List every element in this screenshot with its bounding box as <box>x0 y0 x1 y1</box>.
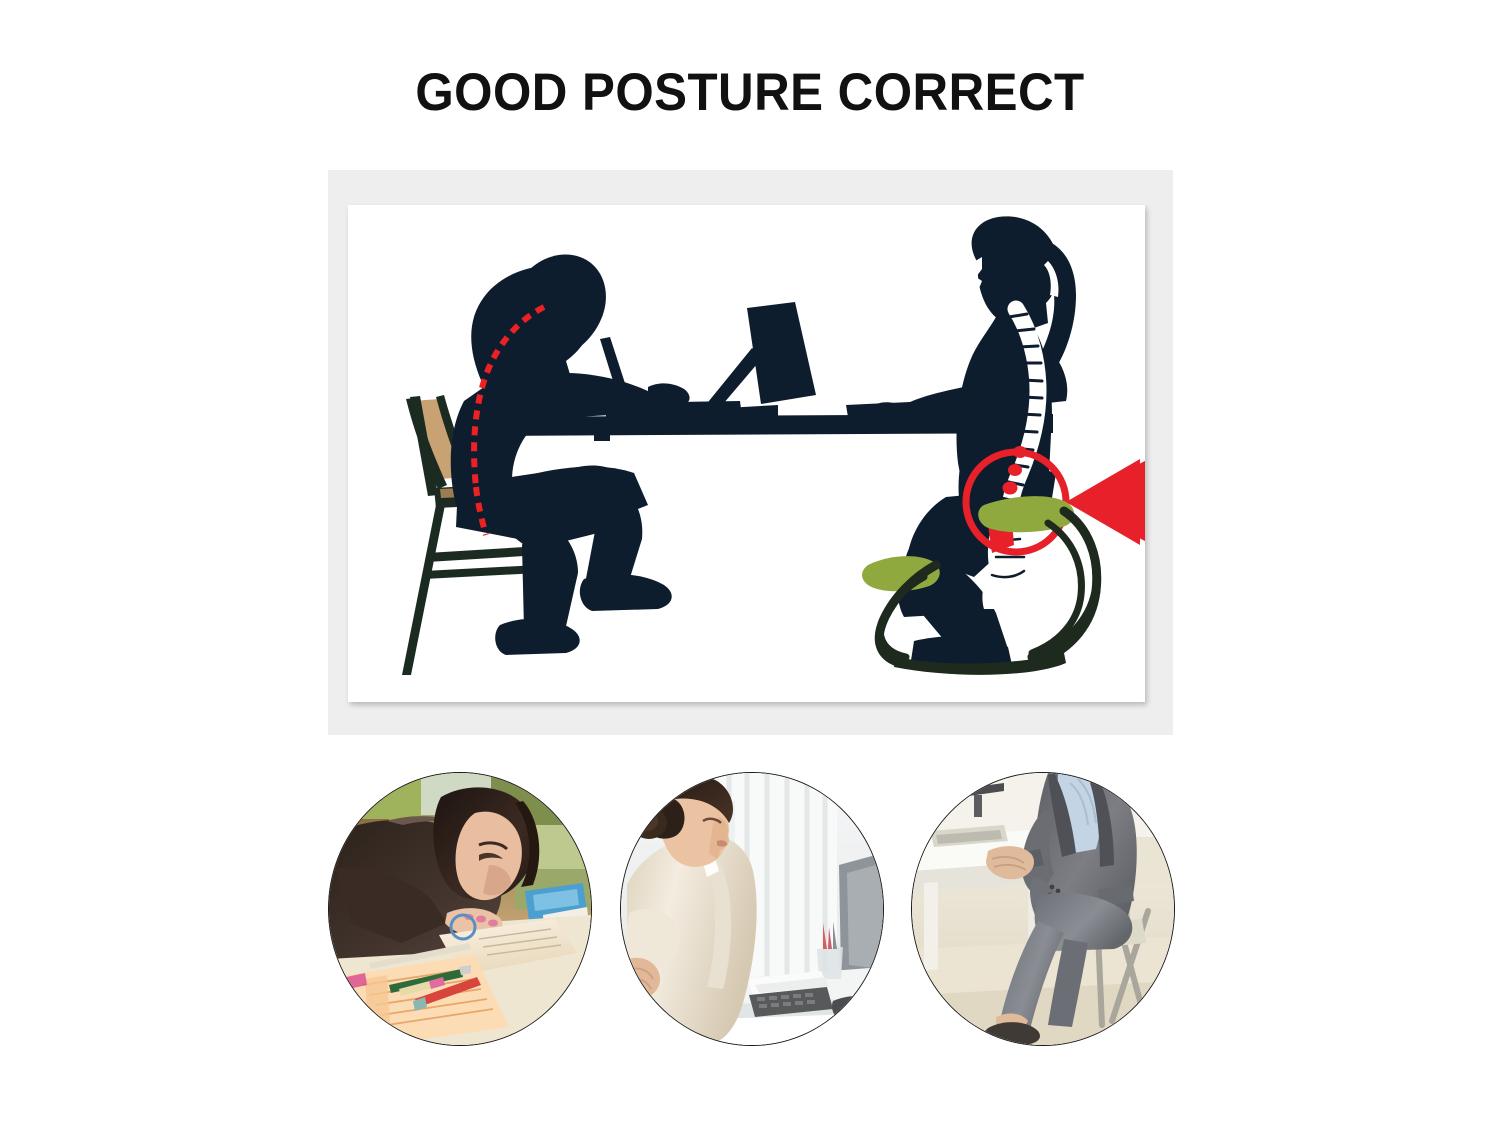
posture-comparison-illustration <box>348 205 1145 702</box>
woman-seated-crossed-legs-image <box>912 773 1174 1045</box>
hero-image-photo <box>348 205 1145 702</box>
photo-woman-holding-lower-back <box>620 772 884 1046</box>
woman-holding-lower-back-image <box>621 773 883 1045</box>
student-slouched-writing-image <box>329 773 591 1045</box>
photo-woman-seated-crossed-legs <box>911 772 1175 1046</box>
page-title: GOOD POSTURE CORRECT <box>53 62 1448 123</box>
posture-photo-row <box>328 772 1173 1044</box>
hero-image-frame <box>328 170 1173 735</box>
photo-student-slouched-writing <box>328 772 592 1046</box>
